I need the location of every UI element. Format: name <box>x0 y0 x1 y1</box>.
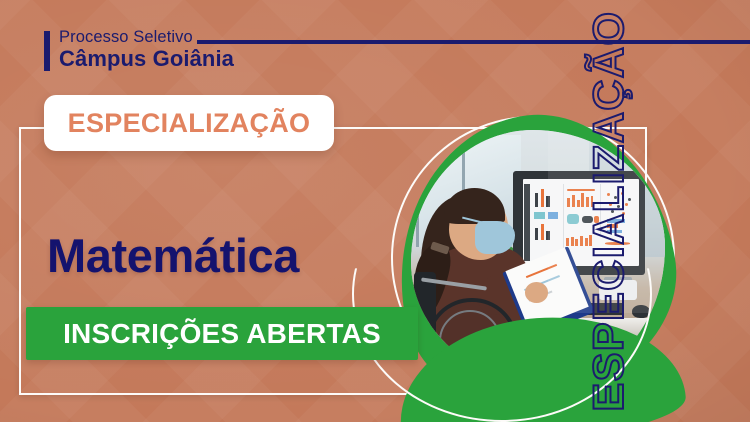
enrollment-status-label: INSCRIÇÕES ABERTAS <box>63 318 381 350</box>
promo-banner: Processo Seletivo Câmpus Goiânia <box>0 0 750 422</box>
header-text-group: Processo Seletivo Câmpus Goiânia <box>59 28 234 72</box>
course-type-badge-label: ESPECIALIZAÇÃO <box>68 108 311 139</box>
header-horizontal-rule <box>197 40 750 44</box>
photo-dashboard-sidebar <box>524 184 530 261</box>
course-title: Matemática <box>47 228 299 283</box>
enrollment-status-banner: INSCRIÇÕES ABERTAS <box>26 307 418 360</box>
course-type-badge: ESPECIALIZAÇÃO <box>44 95 334 151</box>
header-line-campus: Câmpus Goiânia <box>59 47 234 72</box>
header-accent-bar <box>44 31 50 71</box>
